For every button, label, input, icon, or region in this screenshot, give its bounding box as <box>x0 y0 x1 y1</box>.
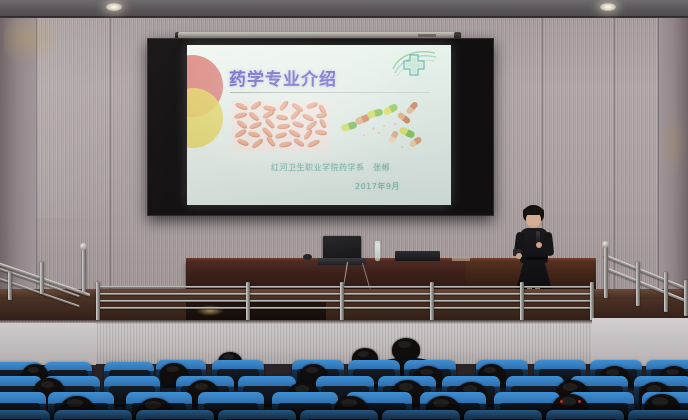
railing-post <box>430 282 434 324</box>
slide-divider <box>230 92 430 93</box>
av-console <box>395 251 440 261</box>
wall-seam <box>658 18 659 328</box>
ceiling-downlight-icon <box>600 3 616 11</box>
railing-post <box>246 282 250 324</box>
presenter-fringe <box>523 207 544 215</box>
wall-stain <box>4 20 62 64</box>
presenter-right-hand <box>536 242 542 248</box>
right-stair-post <box>664 272 668 312</box>
medical-cross-logo <box>391 49 437 79</box>
slide-date: 2017年9月 <box>355 181 400 192</box>
railing-post <box>96 282 100 324</box>
left-stair-post <box>8 272 12 300</box>
lecture-hall-photo: 药学专业介绍 <box>0 0 688 420</box>
projection-screen: 药学专业介绍 <box>147 38 494 216</box>
laptop-screen <box>323 236 361 260</box>
railing-post <box>340 282 344 324</box>
green-yellow-capsules-photo <box>339 101 431 153</box>
mouse <box>303 254 312 260</box>
wall-stain <box>660 108 688 178</box>
presenter-right-arm <box>544 232 554 257</box>
water-bottle <box>375 244 380 261</box>
right-stair-post <box>684 280 688 316</box>
salmon-tablets-photo <box>232 101 329 151</box>
roller-badge <box>418 34 436 37</box>
right-stair-post <box>636 262 640 306</box>
foreground-shadow <box>0 404 688 420</box>
right-stair-post <box>604 246 608 298</box>
presenter-belt <box>521 257 547 260</box>
wall-seam <box>110 18 111 328</box>
left-stair-post-cap <box>80 243 87 250</box>
railing-post <box>520 282 524 324</box>
wall-seam <box>614 18 615 328</box>
paper-sheet <box>452 257 470 261</box>
laptop-keyboard <box>318 258 366 265</box>
hair-tie <box>560 400 563 403</box>
right-stair-post-cap <box>602 241 609 248</box>
projected-slide: 药学专业介绍 <box>187 45 451 205</box>
slide-title: 药学专业介绍 <box>229 65 337 90</box>
left-stair-post <box>82 248 86 292</box>
left-stair-post <box>40 262 44 294</box>
slide-subtitle: 红河卫生职业学院药学系 张郴 <box>271 162 390 173</box>
hair-tie <box>578 400 581 403</box>
ceiling-downlight-icon <box>106 3 122 11</box>
stage-base-shadow <box>0 320 688 324</box>
